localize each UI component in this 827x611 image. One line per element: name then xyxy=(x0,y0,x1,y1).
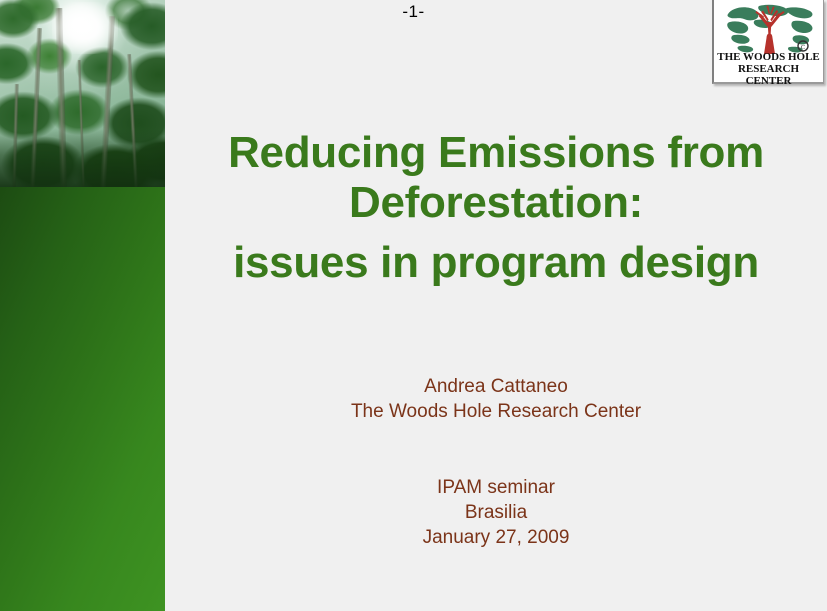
page-title: Reducing Emissions from Deforestation: i… xyxy=(176,128,816,288)
tree-globe-icon: C xyxy=(720,2,820,54)
logo-wordmark: THE WOODS HOLE RESEARCH CENTER xyxy=(714,52,823,88)
presentation-slide: -1- xyxy=(0,0,827,611)
page-number: -1- xyxy=(0,2,827,22)
title-line-3: issues in program design xyxy=(176,238,816,288)
author-name: Andrea Cattaneo xyxy=(176,374,816,399)
author-affiliation: The Woods Hole Research Center xyxy=(176,399,816,424)
svg-text:C: C xyxy=(801,44,805,51)
title-line-2: Deforestation: xyxy=(176,178,816,228)
author-block: Andrea Cattaneo The Woods Hole Research … xyxy=(176,374,816,424)
event-location: Brasilia xyxy=(176,500,816,525)
organization-logo: C THE WOODS HOLE RESEARCH CENTER xyxy=(712,0,824,84)
event-block: IPAM seminar Brasilia January 27, 2009 xyxy=(176,475,816,550)
logo-line-2: RESEARCH CENTER xyxy=(714,64,823,88)
sidebar-decoration xyxy=(0,0,165,611)
page-number-label: -1- xyxy=(402,2,424,21)
forest-canopy-photo xyxy=(0,0,165,187)
event-name: IPAM seminar xyxy=(176,475,816,500)
event-date: January 27, 2009 xyxy=(176,525,816,550)
title-line-1: Reducing Emissions from xyxy=(176,128,816,178)
photo-understory-shadow xyxy=(0,129,165,187)
